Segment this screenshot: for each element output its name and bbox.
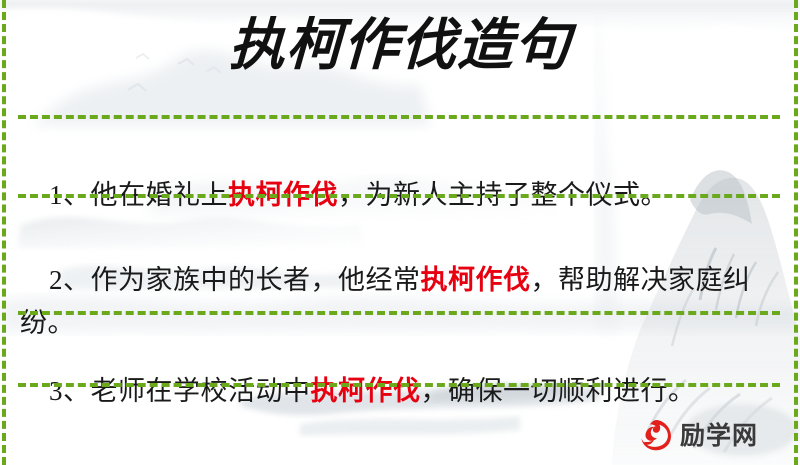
divider-1 xyxy=(18,115,780,119)
sentence-3-before: 老师在学校活动中 xyxy=(91,376,311,406)
divider-3 xyxy=(18,311,780,315)
frame-border-right xyxy=(794,0,798,465)
sentence-2-number: 2、 xyxy=(49,265,91,295)
page-title-wrap: 执柯作伐造句 xyxy=(0,16,800,75)
sentence-2-before: 作为家族中的长者，他经常 xyxy=(91,265,421,295)
idiom-example-card: 执柯作伐造句 1、他在婚礼上执柯作伐，为新人主持了整个仪式。 2、作为家族中的长… xyxy=(0,0,800,465)
divider-4 xyxy=(18,383,780,387)
frame-border-left xyxy=(2,0,6,465)
site-logo[interactable]: 励学网 xyxy=(639,418,758,452)
flame-swirl-icon xyxy=(639,418,673,452)
sentence-2-idiom: 执柯作伐 xyxy=(421,265,531,295)
page-title: 执柯作伐造句 xyxy=(228,16,572,75)
sentence-3-after: ，确保一切顺利进行。 xyxy=(421,376,696,406)
sentence-3-number: 3、 xyxy=(49,376,91,406)
site-logo-name: 励学网 xyxy=(680,423,758,448)
sentence-3-idiom: 执柯作伐 xyxy=(311,376,421,406)
divider-2 xyxy=(18,194,780,198)
